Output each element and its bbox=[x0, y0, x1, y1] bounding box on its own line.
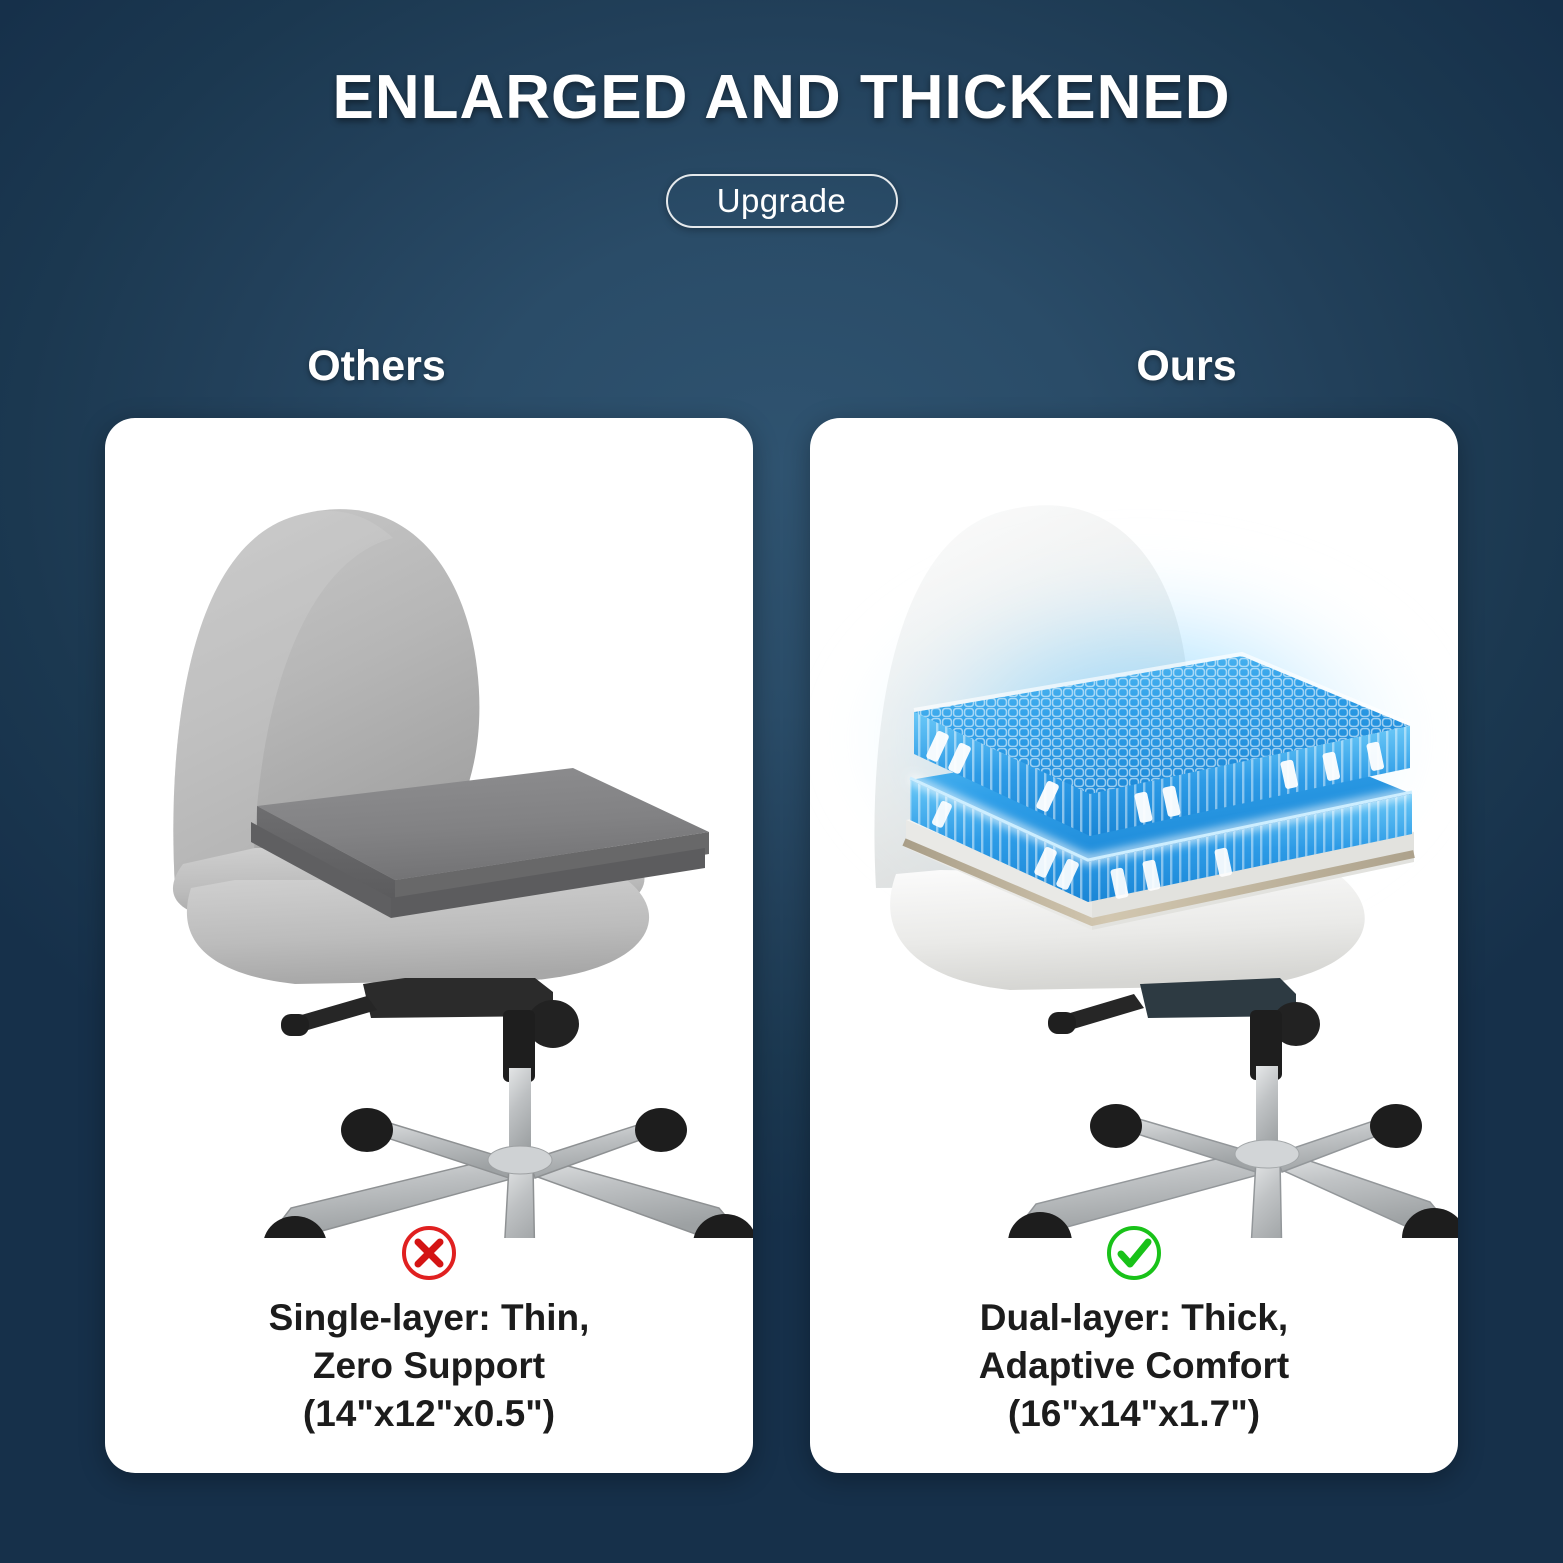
base-hub bbox=[488, 1146, 552, 1174]
upgrade-badge: Upgrade bbox=[666, 174, 898, 228]
promo-banner: ENLARGED AND THICKENED Upgrade Others Ou… bbox=[0, 0, 1563, 1563]
column-label-others: Others bbox=[0, 342, 753, 391]
check-circle-icon bbox=[1105, 1224, 1163, 1282]
page-title: ENLARGED AND THICKENED bbox=[0, 62, 1563, 133]
others-caption: Single-layer: Thin, Zero Support (14"x12… bbox=[105, 1294, 753, 1438]
ours-chair-graphic bbox=[810, 418, 1458, 1238]
comparison-card-others[interactable]: Single-layer: Thin, Zero Support (14"x12… bbox=[105, 418, 753, 1473]
ours-caption: Dual-layer: Thick, Adaptive Comfort (16"… bbox=[810, 1294, 1458, 1438]
ours-verdict bbox=[810, 1224, 1458, 1282]
column-label-ours: Ours bbox=[810, 342, 1563, 391]
upgrade-badge-label: Upgrade bbox=[717, 182, 846, 220]
others-chair-graphic bbox=[105, 418, 753, 1238]
lever-knob bbox=[281, 1014, 309, 1036]
ours-product-illustration bbox=[810, 418, 1458, 1238]
base-hub bbox=[1235, 1140, 1299, 1168]
others-verdict bbox=[105, 1224, 753, 1282]
others-product-illustration bbox=[105, 418, 753, 1238]
lever-knob bbox=[1048, 1012, 1076, 1034]
cross-circle-icon bbox=[400, 1224, 458, 1282]
comparison-card-ours[interactable]: Dual-layer: Thick, Adaptive Comfort (16"… bbox=[810, 418, 1458, 1473]
